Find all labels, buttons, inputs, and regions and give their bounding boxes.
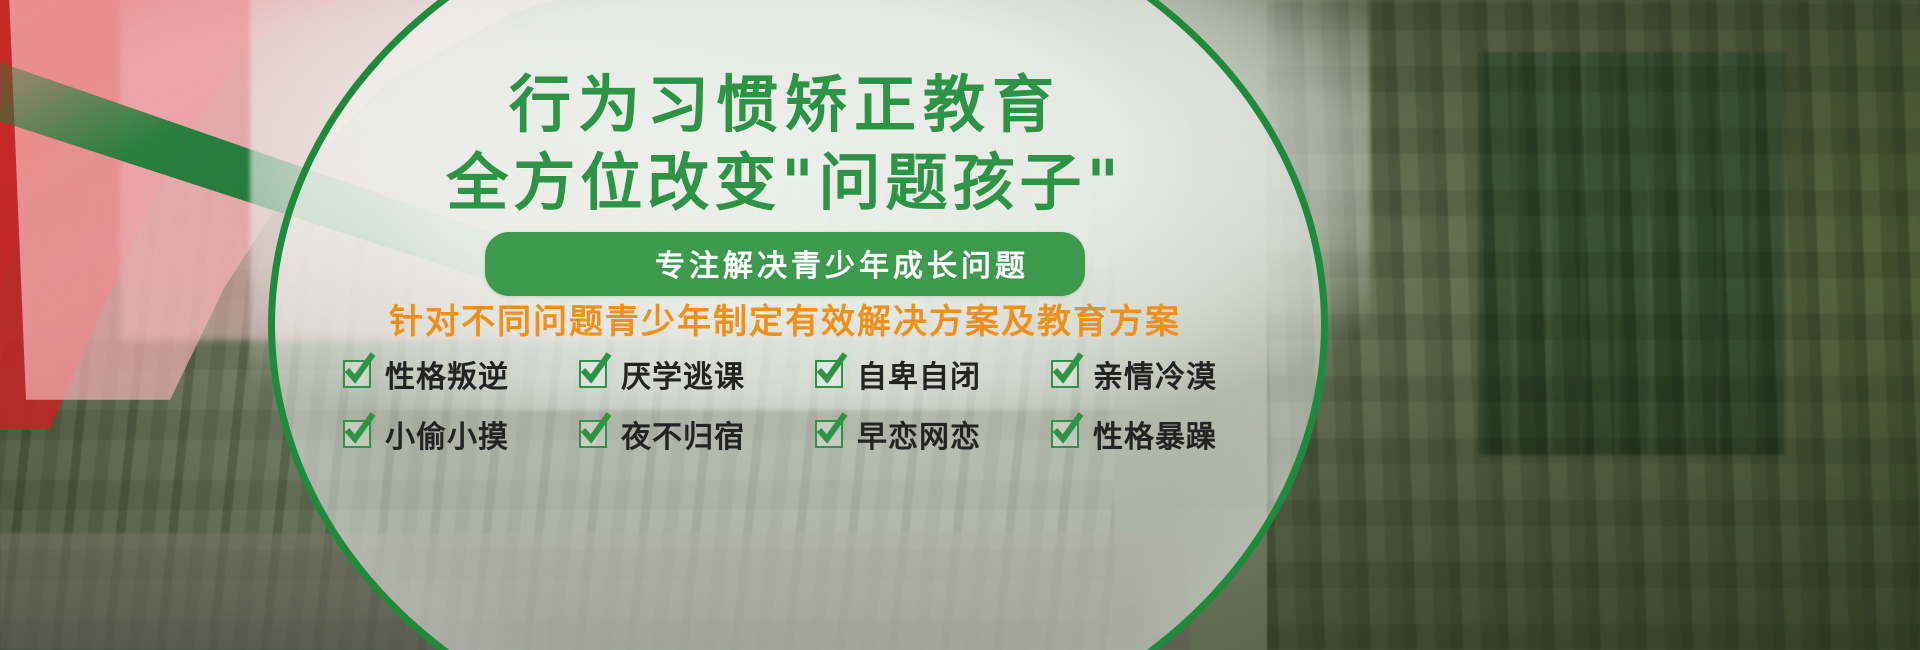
tag-row-1: 性格叛逆 厌学逃课 自卑自闭 [0, 352, 1570, 396]
tag-label: 性格暴躁 [1093, 412, 1217, 456]
tag-label: 性格叛逆 [385, 352, 509, 396]
checkbox-checked-icon [343, 360, 371, 388]
tag-item: 性格暴躁 [1051, 412, 1227, 456]
headline-line-2: 全方位改变"问题孩子" [0, 144, 1570, 222]
checkbox-checked-icon [579, 420, 607, 448]
problem-tag-list: 性格叛逆 厌学逃课 自卑自闭 [0, 352, 1570, 472]
checkbox-checked-icon [579, 360, 607, 388]
headline-block: 行为习惯矫正教育 全方位改变"问题孩子" [0, 66, 1570, 222]
tag-item: 自卑自闭 [815, 352, 991, 396]
checkbox-checked-icon [1051, 360, 1079, 388]
subtitle-pill: 专注解决青少年成长问题 [485, 232, 1085, 296]
tag-item: 早恋网恋 [815, 412, 991, 456]
checkbox-checked-icon [1051, 420, 1079, 448]
tag-label: 小偷小摸 [385, 412, 509, 456]
subtitle-pill-row: 专注解决青少年成长问题 [0, 232, 1570, 296]
promo-banner: 行为习惯矫正教育 全方位改变"问题孩子" 专注解决青少年成长问题 针对不同问题青… [0, 0, 1920, 650]
checkbox-checked-icon [815, 420, 843, 448]
tag-row-2: 小偷小摸 夜不归宿 早恋网恋 [0, 412, 1570, 456]
tag-item: 亲情冷漠 [1051, 352, 1227, 396]
headline-line-1: 行为习惯矫正教育 [0, 66, 1570, 144]
checkbox-checked-icon [343, 420, 371, 448]
tag-label: 自卑自闭 [857, 352, 981, 396]
tag-item: 性格叛逆 [343, 352, 519, 396]
tag-label: 厌学逃课 [621, 352, 745, 396]
tag-label: 亲情冷漠 [1093, 352, 1217, 396]
tag-item: 厌学逃课 [579, 352, 755, 396]
tag-item: 小偷小摸 [343, 412, 519, 456]
tag-label: 早恋网恋 [857, 412, 981, 456]
tag-item: 夜不归宿 [579, 412, 755, 456]
checkbox-checked-icon [815, 360, 843, 388]
tag-label: 夜不归宿 [621, 412, 745, 456]
banner-content: 行为习惯矫正教育 全方位改变"问题孩子" 专注解决青少年成长问题 针对不同问题青… [0, 0, 1570, 650]
subheading-text: 针对不同问题青少年制定有效解决方案及教育方案 [0, 294, 1570, 343]
